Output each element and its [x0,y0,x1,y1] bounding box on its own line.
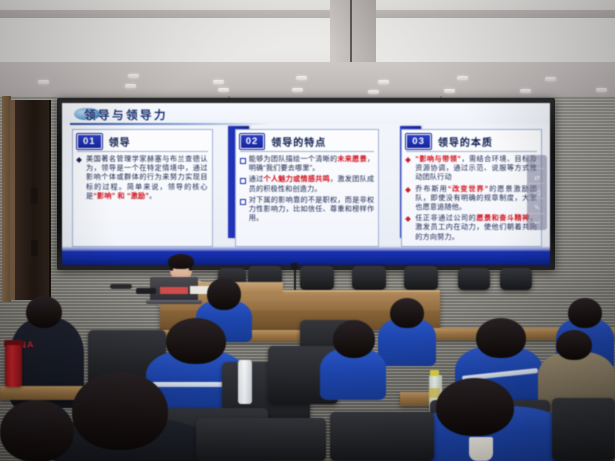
slide-column-03: 03 领导的本质 “影响与带领”，需结合环境、目标及资源协调，通过示范、说服等方… [401,129,542,247]
list-item: “影响与带领”，需结合环境、目标及资源协调，通过示范、说服等方式推动团队行动 [406,155,537,183]
column-02-number: 02 [240,134,265,149]
head-chair [500,268,532,290]
osd-toolbar[interactable]: ⌂ ⇄ ◁) ✎ ↩ [527,155,547,230]
list-item: 通过个人魅力或情感共鸣，激发团队成员的积极性和创造力。 [240,175,375,193]
laptop-base [146,300,202,304]
microphone-stand [294,266,296,292]
column-01-title: 领导 [109,134,131,149]
list-item: 美国著名管理学家赫塞与布兰查德认为，领导是一个在特定情境中，通过影响个体或群体的… [77,155,208,201]
head-chair [352,266,386,290]
list-item: 能够为团队描绘一个清晰的未来愿景，明确“我们要去哪里”。 [240,155,375,173]
highlight-text: “改变世界” [448,185,489,193]
home-icon[interactable]: ⌂ [529,157,545,169]
slide-columns: 01 领导 美国著名管理学家赫塞与布兰查德认为，领导是一个在特定情境中，通过影响… [72,129,542,247]
slide-title: 领导与领导力 [84,107,168,123]
title-underline [70,123,270,125]
column-02-bullets: 能够为团队描绘一个清晰的未来愿景，明确“我们要去哪里”。 通过个人魅力或情感共鸣… [240,155,375,223]
vacuum-flask [238,360,252,404]
highlight-text: 愿景和奋斗精神 [476,214,529,222]
column-01-bullets: 美国著名管理学家赫塞与布兰查德认为，领导是一个在特定情境中，通过影响个体或群体的… [77,155,208,201]
column-02-header: 02 领导的特点 [240,134,375,152]
presentation-slide[interactable]: 领导与领导力 01 领导 美国著名管理学家赫塞与布兰查德认为，领导是一个在特定情… [62,103,550,265]
source-switch-icon[interactable]: ⇄ [529,172,545,184]
head-chair [458,268,490,290]
column-02-title: 领导的特点 [271,134,326,149]
chair [330,412,434,461]
back-icon[interactable]: ↩ [529,217,545,228]
highlight-text: “影响与带领” [415,155,461,163]
annotate-icon[interactable]: ✎ [529,202,545,214]
chair [196,418,326,461]
column-03-header: 03 领导的本质 [406,134,537,152]
list-item: 任正非通过公司的愿景和奋斗精神，激发员工内在动力，使他们朝着共同的方向努力。 [406,214,537,242]
column-03-bullets: “影响与带领”，需结合环境、目标及资源协调，通过示范、说服等方式推动团队行动 乔… [406,155,537,242]
column-03-number: 03 [406,134,431,149]
slide-column-01: 01 领导 美国著名管理学家赫塞与布兰查德认为，领导是一个在特定情境中，通过影响… [72,129,213,247]
presenter-hair [168,254,194,269]
training-room-photo: 领导与领导力 01 领导 美国著名管理学家赫塞与布兰查德认为，领导是一个在特定情… [0,0,615,461]
column-03-title: 领导的本质 [438,134,493,149]
volume-icon[interactable]: ◁) [529,187,545,199]
highlight-text: 未来愿景 [337,155,367,163]
head-chair [404,266,438,290]
room-door[interactable] [10,100,51,300]
microphone-icon [291,263,298,269]
ceiling [0,0,615,104]
red-folder [160,287,188,294]
slide-bottom-bar [62,251,550,265]
list-item: 对下属的影响靠的不是职权，而是非权力性影响力，比如信任、尊重和榜样作用。 [240,196,375,224]
paper-cup [469,437,493,461]
slide-column-02: 02 领导的特点 能够为团队描绘一个清晰的未来愿景，明确“我们要去哪里”。 通过… [235,129,380,247]
projection-screen-bezel: 领导与领导力 01 领导 美国著名管理学家赫塞与布兰查德认为，领导是一个在特定情… [57,98,555,270]
head-chair [300,266,334,290]
red-thermos [5,345,22,387]
desk-object [136,288,156,294]
column-01-header: 01 领导 [77,134,208,152]
column-01-number: 01 [77,134,102,149]
bottle-cap [430,370,439,376]
list-item: 乔布斯用“改变世界”的愿景激励团队，即使没有明确的规章制度，大家也愿意追随他。 [406,185,537,213]
highlight-text: 个人魅力或情感共鸣 [264,175,331,183]
highlight-text: “影响” 和 “激励” [93,192,149,200]
chair [552,398,615,461]
desk-glasses-icon [110,284,132,289]
